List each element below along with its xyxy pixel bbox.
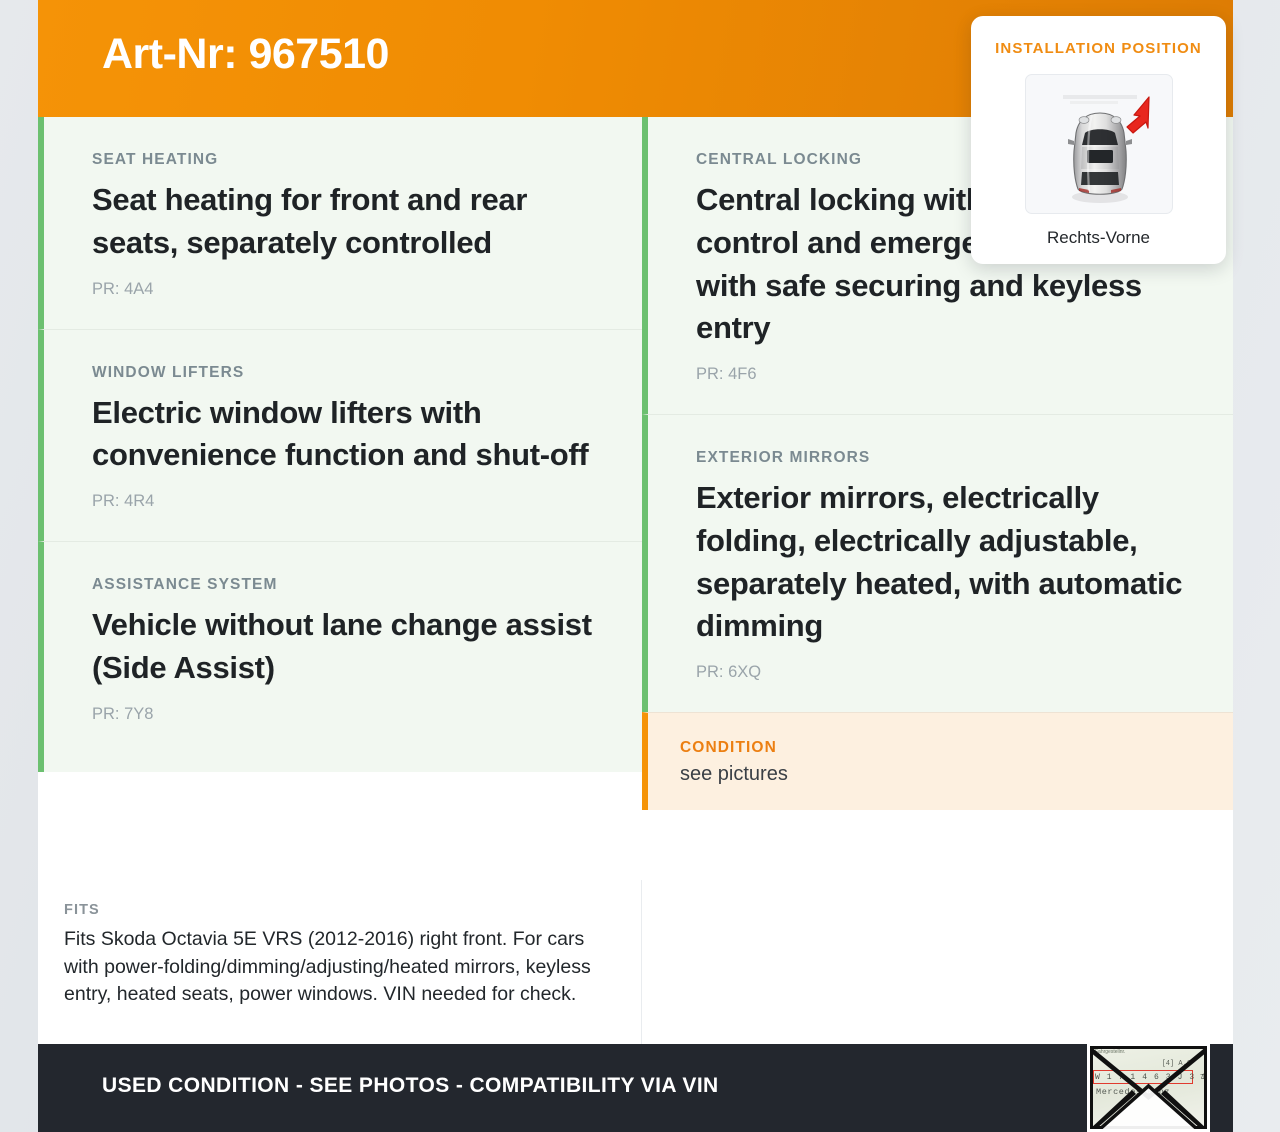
envelope-icon	[1090, 1046, 1207, 1129]
feature-item-seat-heating[interactable]: SEAT HEATING Seat heating for front and …	[38, 117, 642, 329]
installation-position-caption: Rechts-Vorne	[971, 228, 1226, 248]
fits-block: FITS Fits Skoda Octavia 5E VRS (2012-201…	[38, 880, 642, 1044]
fits-label: FITS	[64, 902, 597, 918]
feature-title: Vehicle without lane change assist (Side…	[92, 604, 602, 690]
red-arrow-icon	[1127, 97, 1149, 133]
feature-item-exterior-mirrors[interactable]: EXTERIOR MIRRORS Exterior mirrors, elect…	[642, 414, 1233, 712]
feature-label: WINDOW LIFTERS	[92, 364, 602, 382]
feature-item-window-lifters[interactable]: WINDOW LIFTERS Electric window lifters w…	[38, 329, 642, 542]
feature-title: Seat heating for front and rear seats, s…	[92, 179, 602, 265]
envelope-vin-document-icon: Fahrgestellnr. [4] A.6 W 1 7 1 4 6 3 J 3…	[1087, 1043, 1210, 1132]
feature-item-assistance-system[interactable]: ASSISTANCE SYSTEM Vehicle without lane c…	[38, 541, 642, 754]
fits-row: FITS Fits Skoda Octavia 5E VRS (2012-201…	[38, 880, 1233, 1044]
feature-label: SEAT HEATING	[92, 151, 602, 169]
car-top-view-icon	[1026, 75, 1173, 214]
feature-title: Exterior mirrors, electrically folding, …	[696, 477, 1193, 648]
feature-pr-code: PR: 4F6	[696, 365, 1193, 384]
footer-text: USED CONDITION - SEE PHOTOS - COMPATIBIL…	[102, 1074, 719, 1098]
feature-label: ASSISTANCE SYSTEM	[92, 576, 602, 594]
column-filler	[38, 754, 642, 772]
feature-pr-code: PR: 4A4	[92, 280, 602, 299]
installation-position-card[interactable]: INSTALLATION POSITION	[971, 16, 1226, 264]
installation-position-image	[1025, 74, 1173, 214]
condition-value: see pictures	[680, 763, 1193, 786]
feature-pr-code: PR: 4R4	[92, 492, 602, 511]
features-column-left: SEAT HEATING Seat heating for front and …	[38, 117, 642, 880]
condition-block: CONDITION see pictures	[642, 712, 1233, 810]
footer-bar: USED CONDITION - SEE PHOTOS - COMPATIBIL…	[38, 1044, 1233, 1132]
feature-title: Electric window lifters with convenience…	[92, 392, 602, 478]
fits-text: Fits Skoda Octavia 5E VRS (2012-2016) ri…	[64, 926, 597, 1009]
feature-pr-code: PR: 6XQ	[696, 663, 1193, 682]
installation-position-title: INSTALLATION POSITION	[971, 40, 1226, 57]
fits-empty-area	[642, 880, 1233, 1044]
condition-label: CONDITION	[680, 739, 1193, 757]
page-title: Art-Nr: 967510	[102, 30, 389, 79]
feature-label: EXTERIOR MIRRORS	[696, 449, 1193, 467]
feature-pr-code: PR: 7Y8	[92, 705, 602, 724]
